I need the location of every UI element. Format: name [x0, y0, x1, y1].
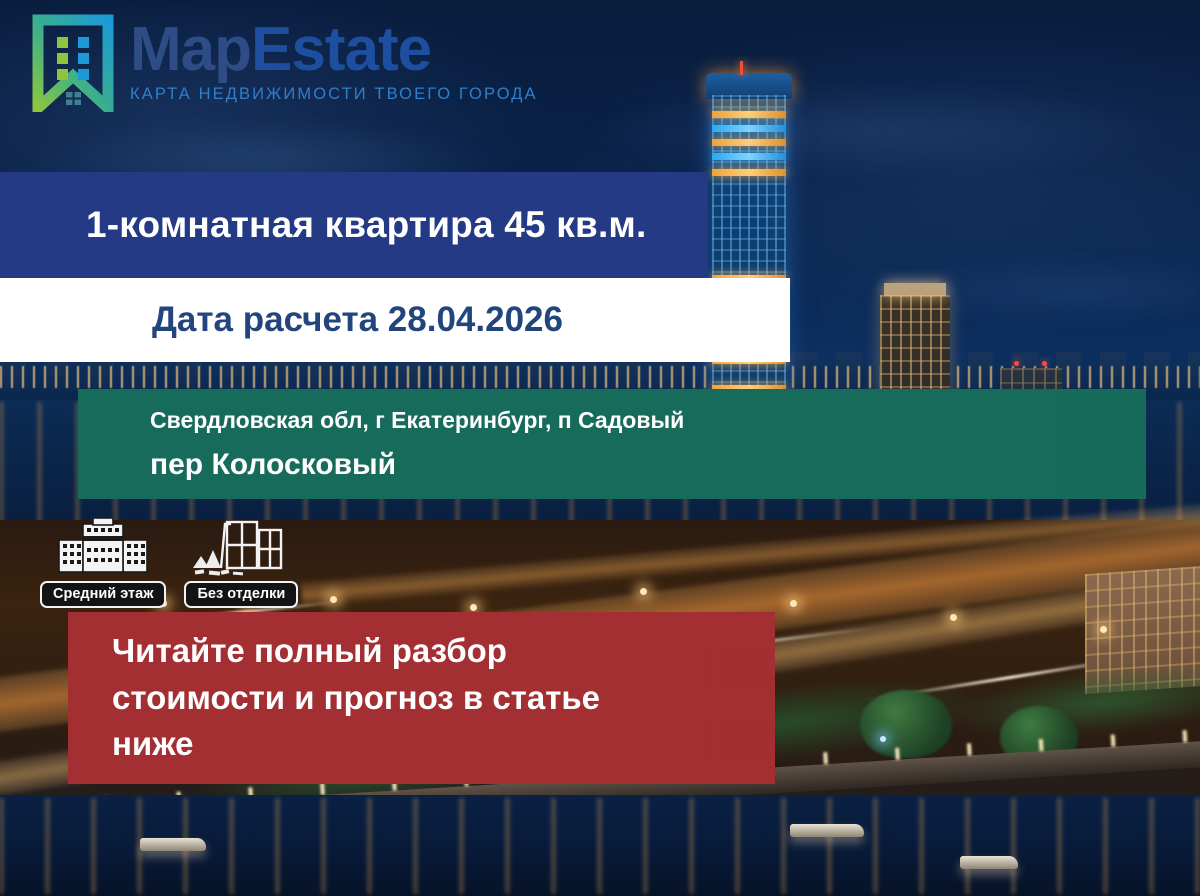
- badge-middle-floor[interactable]: Средний этаж: [40, 518, 166, 608]
- cta-line-1: Читайте полный разбор: [112, 628, 507, 675]
- brush-edge-right: [642, 278, 792, 362]
- property-title: 1-комнатная квартира 45 кв.м.: [0, 204, 646, 246]
- brush-edge-right: [699, 612, 779, 784]
- address-street: пер Колосковый: [150, 448, 396, 482]
- brush-edge-right: [1060, 389, 1150, 499]
- badge-label: Средний этаж: [40, 581, 166, 608]
- cta-line-3: ниже: [112, 721, 194, 768]
- cta-line-2: стоимости и прогноз в статье: [112, 675, 600, 722]
- address-band: Свердловская обл, г Екатеринбург, п Садо…: [78, 389, 1146, 499]
- badge-label: Без отделки: [184, 581, 298, 608]
- badge-no-finishing[interactable]: Без отделки: [184, 518, 298, 608]
- property-title-band: 1-комнатная квартира 45 кв.м.: [0, 172, 708, 278]
- calculation-date-band: Дата расчета 28.04.2026: [0, 278, 790, 362]
- address-region: Свердловская обл, г Екатеринбург, п Садо…: [150, 407, 684, 434]
- brand-tagline: КАРТА НЕДВИЖИМОСТИ ТВОЕГО ГОРОДА: [130, 85, 538, 104]
- calculation-date: Дата расчета 28.04.2026: [0, 300, 563, 340]
- apartment-building-icon: [53, 518, 153, 576]
- brand-logo[interactable]: MapEstate КАРТА НЕДВИЖИМОСТИ ТВОЕГО ГОРО…: [30, 14, 538, 112]
- cta-band[interactable]: Читайте полный разбор стоимости и прогно…: [68, 612, 775, 784]
- brand-wordmark: MapEstate КАРТА НЕДВИЖИМОСТИ ТВОЕГО ГОРО…: [130, 14, 538, 104]
- brand-name-map: Map: [130, 15, 251, 84]
- promo-card: MapEstate КАРТА НЕДВИЖИМОСТИ ТВОЕГО ГОРО…: [0, 0, 1200, 896]
- feature-badges: Средний этаж: [40, 518, 298, 608]
- brand-name-estate: Estate: [251, 15, 431, 84]
- bookmark-building-icon: [30, 14, 116, 112]
- unfinished-interior-icon: [191, 518, 291, 576]
